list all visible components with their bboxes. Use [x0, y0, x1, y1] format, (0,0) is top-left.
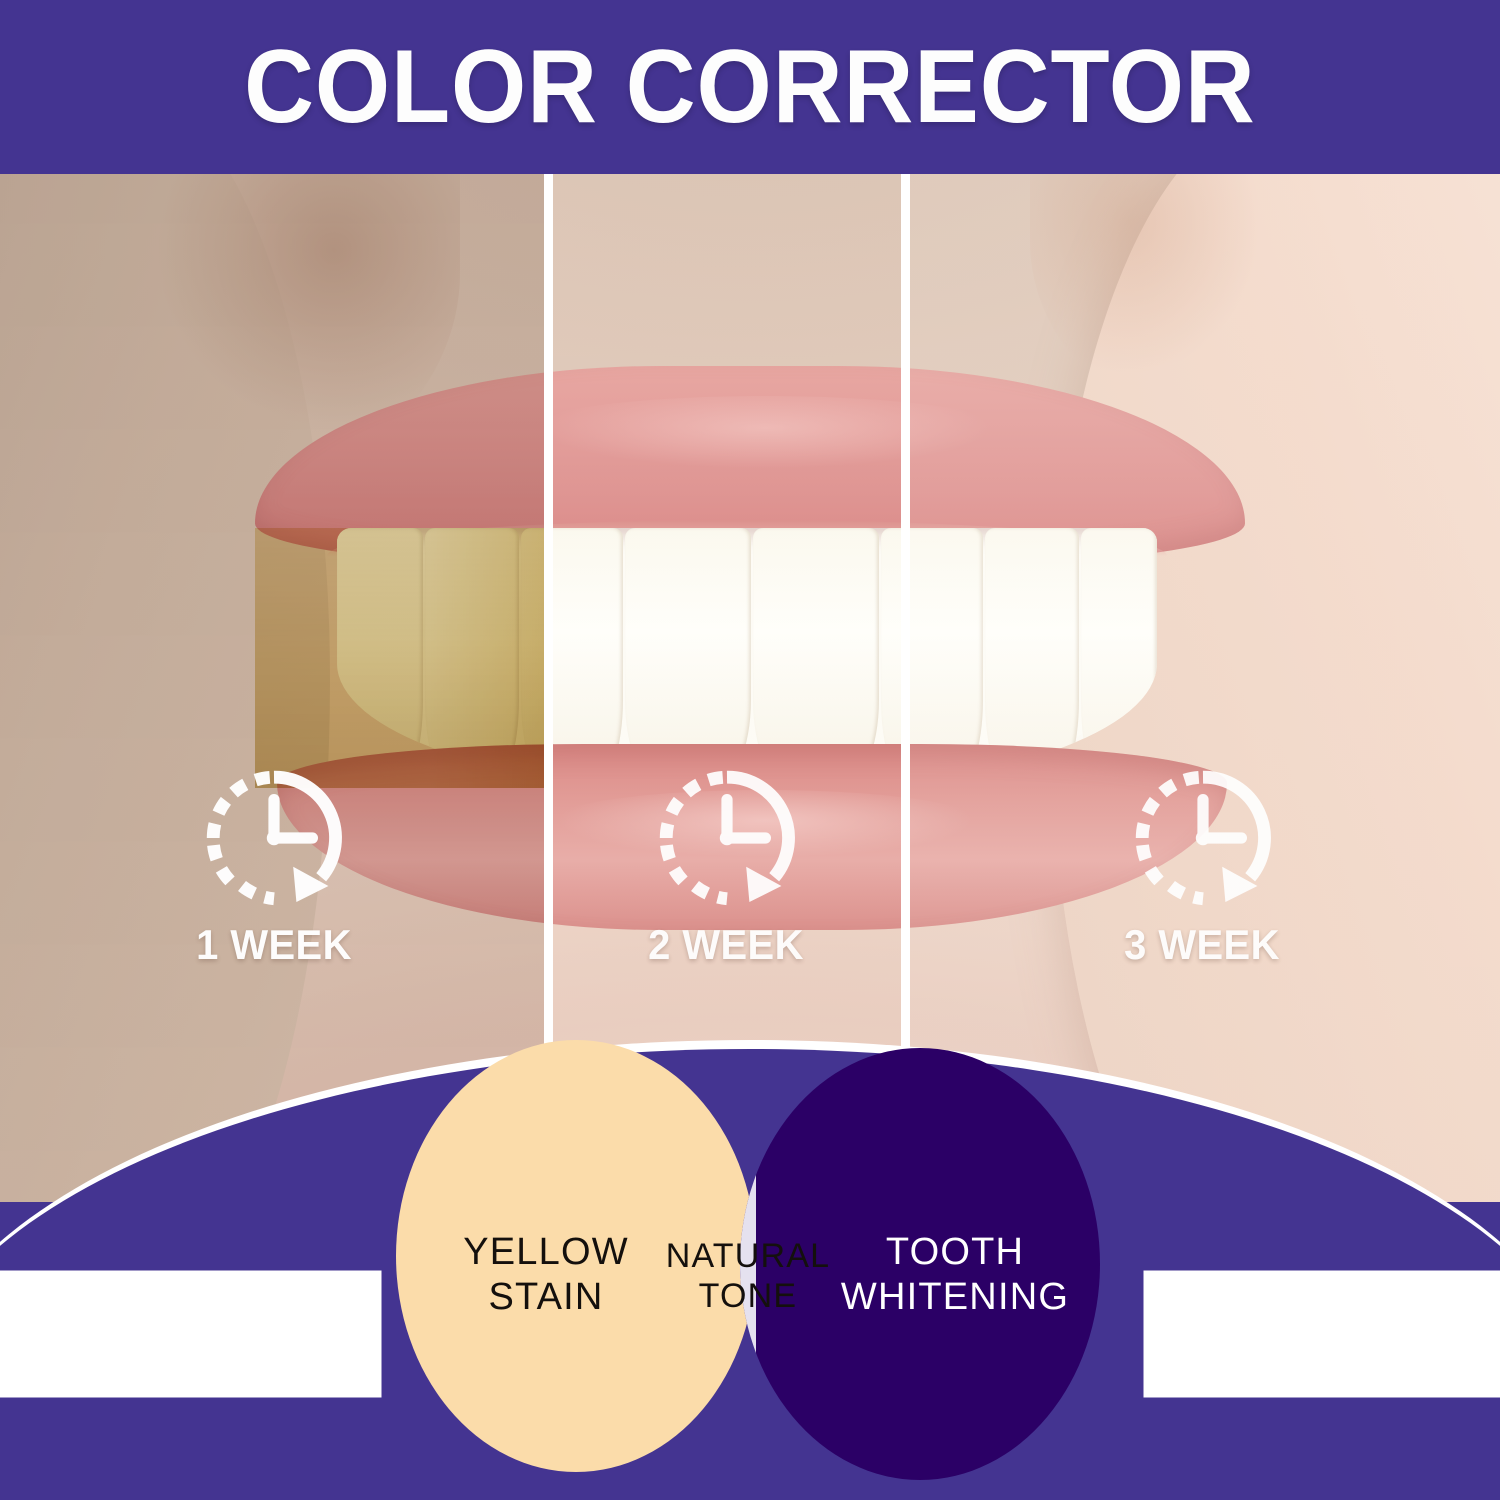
upper-lip-highlight	[505, 396, 1025, 476]
timeline-badge-week-1: 1 WEEK	[0, 758, 548, 1008]
yellow-stain-fade	[430, 528, 548, 788]
tooth	[1081, 528, 1157, 788]
clock-arrow-icon	[647, 758, 807, 918]
product-infographic: COLOR CORRECTOR	[0, 0, 1500, 1500]
clock-arrow-icon	[1123, 758, 1283, 918]
timeline-label: 2 WEEK	[649, 924, 805, 966]
clock-arrow-icon	[194, 758, 354, 918]
timeline-badges: 1 WEEK 2 WEEK	[0, 758, 1500, 1008]
venn-label-tooth-whitening: TOOTH WHITENING	[800, 1230, 1110, 1320]
timeline-badge-week-2: 2 WEEK	[548, 758, 905, 1008]
venn-diagram: YELLOW STAIN NATURAL TONE TOOTH WHITENIN…	[0, 1040, 1500, 1480]
timeline-badge-week-3: 3 WEEK	[905, 758, 1500, 1008]
timeline-label: 1 WEEK	[196, 924, 352, 966]
timeline-label: 3 WEEK	[1125, 924, 1281, 966]
page-title: COLOR CORRECTOR	[244, 35, 1256, 139]
header-banner: COLOR CORRECTOR	[0, 0, 1500, 174]
